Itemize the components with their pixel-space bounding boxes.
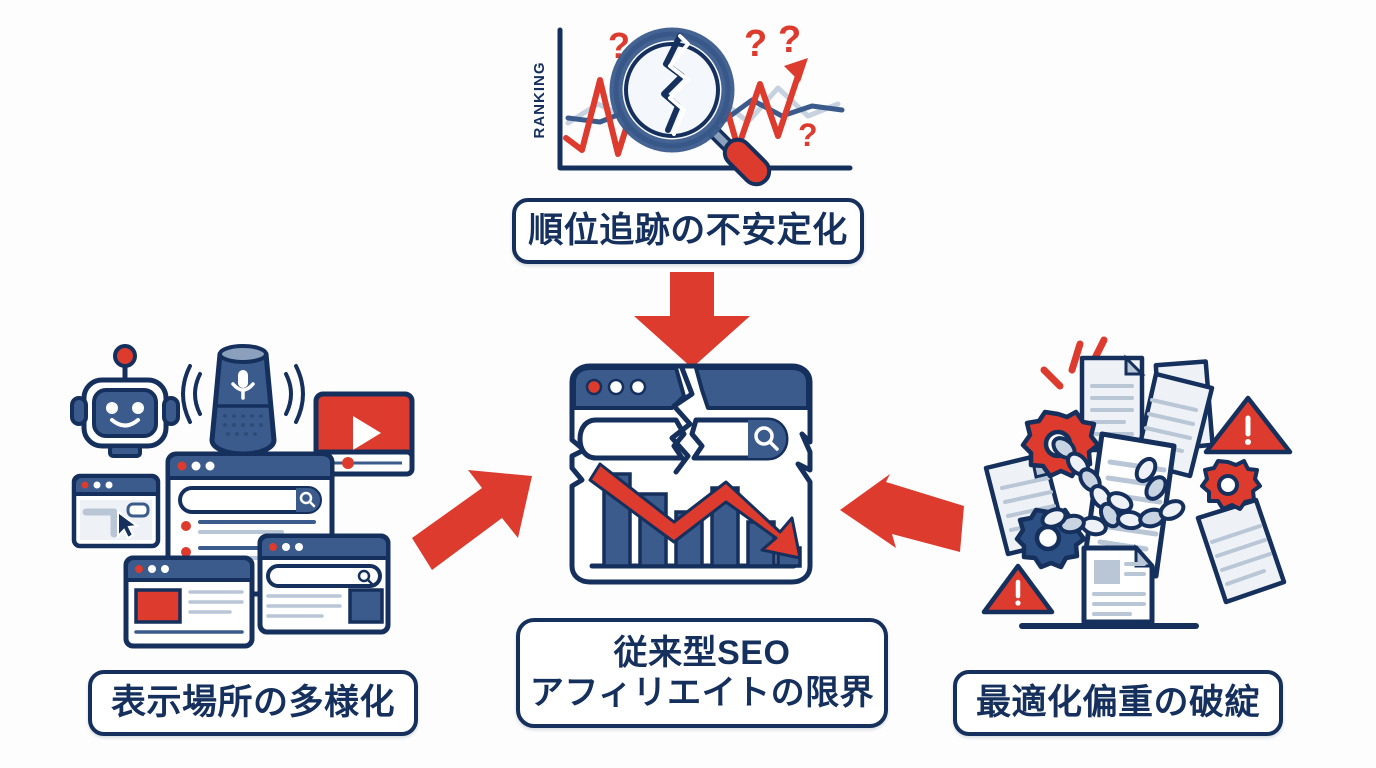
node-label-left[interactable]: 表示場所の多様化 <box>88 670 418 736</box>
question-mark-icon: ? <box>778 19 801 61</box>
center-illustration-broken-seo-browser <box>556 360 826 610</box>
content-browser-window <box>260 536 388 632</box>
infographic-canvas: RANKING ? ? ? ? <box>0 0 1376 768</box>
node-label-right[interactable]: 最適化偏重の破綻 <box>953 670 1283 736</box>
node-label-top-text: 順位追跡の不安定化 <box>528 211 848 250</box>
right-illustration-overoptimization-collapse <box>960 330 1310 660</box>
arrow-top-to-center <box>626 272 758 370</box>
node-label-center-line2: アフィリエイトの限界 <box>530 674 874 712</box>
document-icon <box>1198 500 1284 602</box>
node-label-top[interactable]: 順位追跡の不安定化 <box>512 198 864 264</box>
smart-speaker-icon <box>183 346 303 454</box>
node-label-center[interactable]: 従来型SEO アフィリエイトの限界 <box>516 618 888 728</box>
window-dot-white <box>631 380 645 394</box>
article-browser-window <box>126 558 252 646</box>
cracked-magnifier-icon <box>616 34 728 146</box>
gear-icon-red-small <box>1202 461 1260 509</box>
node-label-center-line1: 従来型SEO <box>614 634 791 672</box>
question-mark-icon: ? <box>744 23 767 65</box>
ranking-axis-label: RANKING <box>531 62 548 139</box>
ai-robot-icon <box>72 346 178 456</box>
window-dot-red <box>587 380 601 394</box>
top-illustration-ranking-volatility: RANKING ? ? ? ? <box>520 18 860 193</box>
warning-triangle-icon <box>984 566 1052 612</box>
node-label-right-text: 最適化偏重の破綻 <box>976 683 1260 722</box>
question-mark-icon: ? <box>798 117 818 153</box>
map-browser-window <box>74 476 158 546</box>
left-illustration-display-surfaces <box>70 336 430 662</box>
window-dot-white <box>609 380 623 394</box>
warning-triangle-icon <box>1206 398 1290 452</box>
arrow-right-to-center <box>836 474 968 574</box>
document-icon <box>1084 548 1152 622</box>
node-label-left-text: 表示場所の多様化 <box>111 683 395 722</box>
